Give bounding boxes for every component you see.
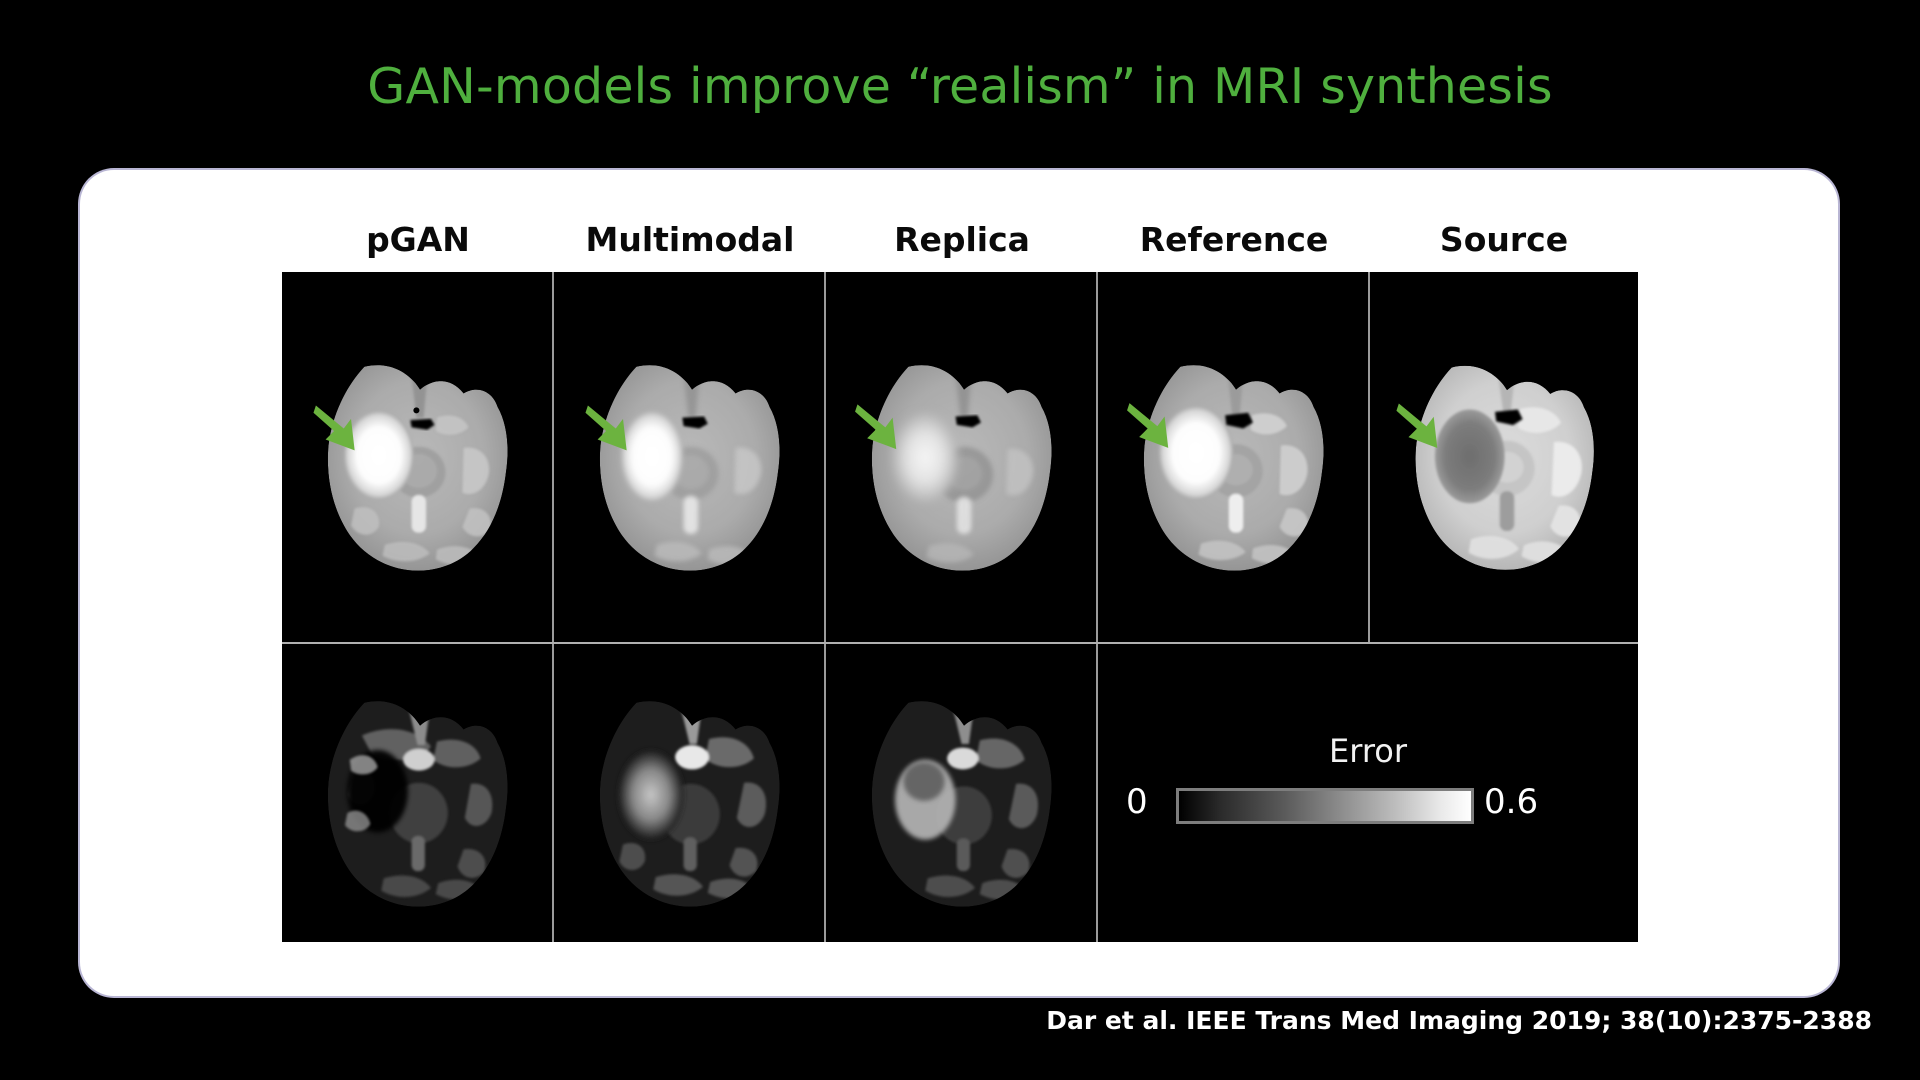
divider-vertical-2 — [824, 272, 826, 942]
colorbar-title: Error — [1098, 732, 1638, 770]
figure-grid: Error 0 0.6 — [282, 272, 1638, 942]
panel-pgan-image — [282, 272, 552, 642]
column-header-row: pGAN Multimodal Replica Reference Source — [282, 220, 1638, 266]
divider-horizontal — [282, 642, 1638, 644]
column-header-pgan: pGAN — [282, 220, 554, 259]
panel-source-image — [1370, 272, 1638, 642]
error-colorbar: Error 0 0.6 — [1098, 644, 1638, 942]
column-header-replica: Replica — [826, 220, 1098, 259]
content-card: pGAN Multimodal Replica Reference Source — [80, 170, 1838, 996]
colorbar-max-label: 0.6 — [1484, 782, 1538, 822]
page-title: GAN-models improve “realism” in MRI synt… — [0, 58, 1920, 115]
panel-reference-image — [1098, 272, 1368, 642]
divider-vertical-3 — [1096, 272, 1098, 942]
panel-pgan-error-map — [282, 644, 552, 942]
column-header-source: Source — [1370, 220, 1638, 259]
panel-multimodal-error-map — [554, 644, 824, 942]
panel-multimodal-image — [554, 272, 824, 642]
column-header-multimodal: Multimodal — [554, 220, 826, 259]
divider-vertical-4 — [1368, 272, 1370, 642]
citation-text: Dar et al. IEEE Trans Med Imaging 2019; … — [1046, 1006, 1872, 1035]
slide-root: GAN-models improve “realism” in MRI synt… — [0, 0, 1920, 1080]
colorbar-gradient — [1176, 788, 1474, 824]
panel-replica-error-map — [826, 644, 1096, 942]
divider-vertical-1 — [552, 272, 554, 942]
colorbar-min-label: 0 — [1126, 782, 1148, 822]
column-header-reference: Reference — [1098, 220, 1370, 259]
panel-replica-image — [826, 272, 1096, 642]
